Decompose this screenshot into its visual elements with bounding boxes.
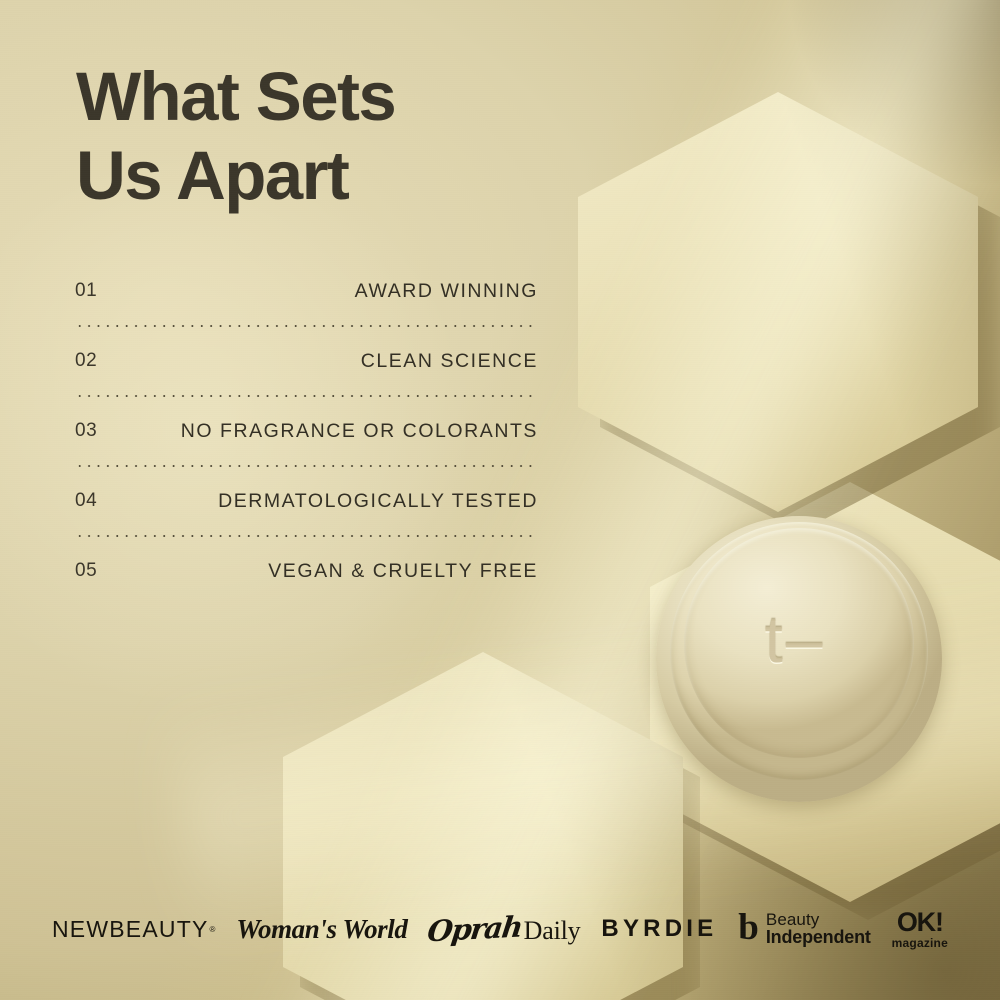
logo-newbeauty-text: NEWBEAUTY (52, 916, 208, 943)
feature-label: DERMATOLOGICALLY TESTED (218, 490, 538, 513)
feature-number: 04 (75, 490, 97, 512)
feature-number: 05 (75, 560, 97, 582)
feature-row: 02 CLEAN SCIENCE (75, 332, 538, 390)
logo-magazine-text: magazine (892, 937, 948, 949)
brand-emboss-mark: t– (764, 606, 825, 672)
feature-row: 04 DERMATOLOGICALLY TESTED (75, 472, 538, 530)
press-logo-bar: NEWBEAUTY® Woman's World Oprah Daily BYR… (0, 898, 1000, 960)
logo-oprah-script: Oprah (426, 910, 524, 949)
logo-oprah-daily: Oprah Daily (428, 912, 580, 946)
beauty-independent-b-icon: b (738, 911, 759, 944)
logo-newbeauty: NEWBEAUTY® (52, 916, 215, 943)
feature-row: 03 NO FRAGRANCE OR COLORANTS (75, 402, 538, 460)
feature-number: 02 (75, 350, 97, 372)
logo-daily-text: Daily (524, 916, 581, 946)
logo-beauty-text: Beauty (766, 911, 871, 928)
feature-row: 01 AWARD WINNING (75, 262, 538, 320)
registered-trademark-icon: ® (209, 925, 215, 934)
logo-womans-world: Woman's World (236, 914, 407, 945)
feature-divider (75, 530, 538, 542)
feature-label: CLEAN SCIENCE (361, 350, 538, 373)
headline-line-1: What Sets (76, 58, 596, 137)
feature-divider (75, 460, 538, 472)
feature-number: 03 (75, 420, 97, 442)
feature-divider (75, 320, 538, 332)
logo-ok-magazine: OK! magazine (892, 909, 948, 949)
feature-label: AWARD WINNING (355, 280, 538, 303)
feature-divider (75, 390, 538, 402)
feature-label: VEGAN & CRUELTY FREE (268, 560, 538, 583)
logo-ok-text: OK! (897, 909, 943, 936)
logo-byrdie: BYRDIE (601, 915, 717, 943)
logo-independent-text: Independent (766, 928, 871, 946)
feature-label: NO FRAGRANCE OR COLORANTS (181, 420, 538, 443)
promo-graphic: t– What Sets Us Apart 01 AWARD WINNING 0… (0, 0, 1000, 1000)
product-jar-emboss: t– (684, 528, 914, 758)
feature-row: 05 VEGAN & CRUELTY FREE (75, 542, 538, 600)
feature-list: 01 AWARD WINNING 02 CLEAN SCIENCE 03 NO … (75, 262, 538, 600)
logo-beauty-independent: b Beauty Independent (738, 911, 870, 947)
feature-number: 01 (75, 280, 97, 302)
logo-womans-world-text: Woman's World (236, 914, 407, 945)
page-title: What Sets Us Apart (76, 58, 596, 215)
headline-line-2: Us Apart (76, 137, 596, 216)
logo-byrdie-text: BYRDIE (601, 915, 717, 943)
